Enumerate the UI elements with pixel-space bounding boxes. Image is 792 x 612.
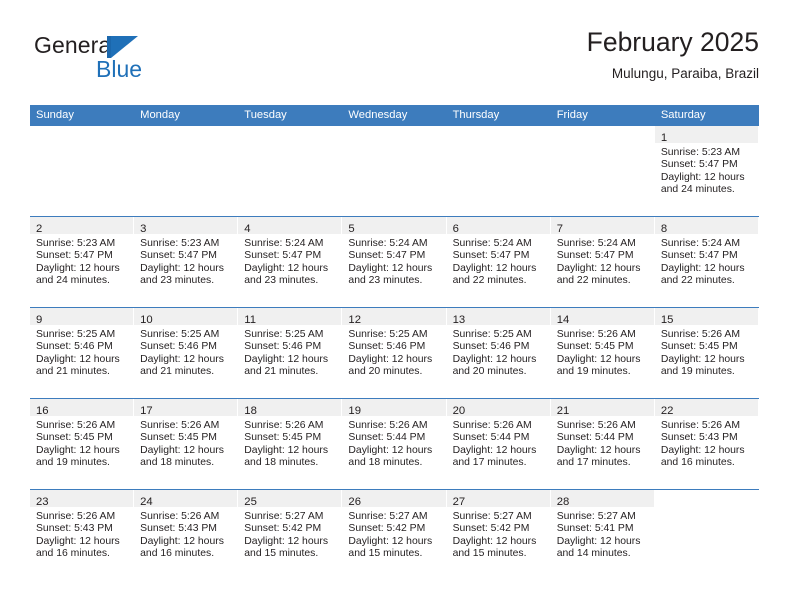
daylight-text-line1: Daylight: 12 hours <box>244 445 338 457</box>
daylight-text-line1: Daylight: 12 hours <box>453 263 547 275</box>
calendar-cell-inner <box>30 126 134 216</box>
day-number: 23 <box>36 496 49 508</box>
weekday-header-monday: Monday <box>134 105 238 126</box>
calendar-cell-inner: 4Sunrise: 5:24 AMSunset: 5:47 PMDaylight… <box>238 217 342 307</box>
daylight-text-line2: and 14 minutes. <box>557 548 651 560</box>
sunrise-text: Sunrise: 5:26 AM <box>140 420 234 432</box>
day-details: Sunrise: 5:27 AMSunset: 5:42 PMDaylight:… <box>342 507 446 561</box>
daylight-text-line2: and 19 minutes. <box>557 366 651 378</box>
sunset-text: Sunset: 5:47 PM <box>348 250 442 262</box>
calendar-page: General Blue February 2025 Mulungu, Para… <box>0 0 792 612</box>
day-number: 22 <box>661 405 674 417</box>
sunrise-text: Sunrise: 5:26 AM <box>661 420 755 432</box>
sunrise-text: Sunrise: 5:26 AM <box>36 511 130 523</box>
daylight-text-line1: Daylight: 12 hours <box>140 536 234 548</box>
calendar-cell-inner <box>551 126 655 216</box>
calendar-cell-inner: 20Sunrise: 5:26 AMSunset: 5:44 PMDayligh… <box>447 399 551 489</box>
calendar-week-row: 2Sunrise: 5:23 AMSunset: 5:47 PMDaylight… <box>30 217 759 308</box>
calendar-cell-empty <box>134 126 238 217</box>
daylight-text-line2: and 15 minutes. <box>453 548 547 560</box>
day-number-band: 2 <box>30 217 133 234</box>
day-number-band: 18 <box>238 399 341 416</box>
day-number-band: 27 <box>447 490 550 507</box>
sunrise-text: Sunrise: 5:26 AM <box>557 420 651 432</box>
day-details: Sunrise: 5:24 AMSunset: 5:47 PMDaylight:… <box>655 234 759 288</box>
sunrise-text: Sunrise: 5:23 AM <box>661 147 755 159</box>
day-details: Sunrise: 5:26 AMSunset: 5:43 PMDaylight:… <box>655 416 759 470</box>
calendar-day-cell[interactable]: 11Sunrise: 5:25 AMSunset: 5:46 PMDayligh… <box>238 308 342 399</box>
day-number-band <box>551 126 654 143</box>
day-number: 19 <box>348 405 361 417</box>
day-number: 17 <box>140 405 153 417</box>
daylight-text-line1: Daylight: 12 hours <box>244 354 338 366</box>
sunset-text: Sunset: 5:45 PM <box>557 341 651 353</box>
day-number: 1 <box>661 132 667 144</box>
calendar-cell-inner: 10Sunrise: 5:25 AMSunset: 5:46 PMDayligh… <box>134 308 238 398</box>
calendar-cell-inner: 15Sunrise: 5:26 AMSunset: 5:45 PMDayligh… <box>655 308 759 398</box>
daylight-text-line2: and 18 minutes. <box>348 457 442 469</box>
daylight-text-line2: and 16 minutes. <box>140 548 234 560</box>
day-number: 21 <box>557 405 570 417</box>
day-number-band: 3 <box>134 217 237 234</box>
calendar-cell-inner: 25Sunrise: 5:27 AMSunset: 5:42 PMDayligh… <box>238 490 342 580</box>
day-number: 6 <box>453 223 459 235</box>
day-details: Sunrise: 5:23 AMSunset: 5:47 PMDaylight:… <box>655 143 759 197</box>
daylight-text-line1: Daylight: 12 hours <box>244 536 338 548</box>
day-number: 27 <box>453 496 466 508</box>
calendar-cell-inner <box>655 490 759 580</box>
daylight-text-line2: and 21 minutes. <box>244 366 338 378</box>
sunset-text: Sunset: 5:43 PM <box>140 523 234 535</box>
weekday-header-saturday: Saturday <box>655 105 759 126</box>
sunset-text: Sunset: 5:42 PM <box>453 523 547 535</box>
daylight-text-line1: Daylight: 12 hours <box>244 263 338 275</box>
sunset-text: Sunset: 5:47 PM <box>36 250 130 262</box>
sunrise-text: Sunrise: 5:25 AM <box>140 329 234 341</box>
calendar-week-row: 1Sunrise: 5:23 AMSunset: 5:47 PMDaylight… <box>30 126 759 217</box>
daylight-text-line2: and 19 minutes. <box>661 366 755 378</box>
daylight-text-line1: Daylight: 12 hours <box>557 354 651 366</box>
sunrise-text: Sunrise: 5:26 AM <box>36 420 130 432</box>
sunset-text: Sunset: 5:44 PM <box>348 432 442 444</box>
daylight-text-line2: and 20 minutes. <box>453 366 547 378</box>
daylight-text-line1: Daylight: 12 hours <box>453 354 547 366</box>
daylight-text-line2: and 17 minutes. <box>557 457 651 469</box>
calendar-day-cell[interactable]: 17Sunrise: 5:26 AMSunset: 5:45 PMDayligh… <box>134 399 238 490</box>
sunset-text: Sunset: 5:45 PM <box>140 432 234 444</box>
calendar-cell-inner <box>134 126 238 216</box>
day-details: Sunrise: 5:25 AMSunset: 5:46 PMDaylight:… <box>447 325 551 379</box>
weekday-header-wednesday: Wednesday <box>342 105 446 126</box>
day-number-band <box>238 126 341 143</box>
calendar-cell-empty <box>238 126 342 217</box>
day-number-band <box>447 126 550 143</box>
daylight-text-line1: Daylight: 12 hours <box>36 354 130 366</box>
day-number: 10 <box>140 314 153 326</box>
day-details: Sunrise: 5:27 AMSunset: 5:41 PMDaylight:… <box>551 507 655 561</box>
day-number-band: 14 <box>551 308 654 325</box>
day-number-band: 21 <box>551 399 654 416</box>
day-details: Sunrise: 5:25 AMSunset: 5:46 PMDaylight:… <box>342 325 446 379</box>
calendar-day-cell[interactable]: 15Sunrise: 5:26 AMSunset: 5:45 PMDayligh… <box>655 308 759 399</box>
calendar-day-cell[interactable]: 24Sunrise: 5:26 AMSunset: 5:43 PMDayligh… <box>134 490 238 581</box>
sunset-text: Sunset: 5:45 PM <box>36 432 130 444</box>
day-number-band: 24 <box>134 490 237 507</box>
daylight-text-line1: Daylight: 12 hours <box>140 445 234 457</box>
weekday-header-sunday: Sunday <box>30 105 134 126</box>
sunrise-text: Sunrise: 5:24 AM <box>557 238 651 250</box>
triangle-logo-icon <box>107 36 138 58</box>
daylight-text-line1: Daylight: 12 hours <box>661 263 755 275</box>
sunrise-text: Sunrise: 5:25 AM <box>348 329 442 341</box>
day-number-band <box>134 126 237 143</box>
day-number-band: 25 <box>238 490 341 507</box>
calendar-body: 1Sunrise: 5:23 AMSunset: 5:47 PMDaylight… <box>30 126 759 580</box>
calendar-day-cell[interactable]: 3Sunrise: 5:23 AMSunset: 5:47 PMDaylight… <box>134 217 238 308</box>
day-details: Sunrise: 5:24 AMSunset: 5:47 PMDaylight:… <box>551 234 655 288</box>
daylight-text-line2: and 15 minutes. <box>348 548 442 560</box>
daylight-text-line1: Daylight: 12 hours <box>140 354 234 366</box>
calendar-day-cell[interactable]: 9Sunrise: 5:25 AMSunset: 5:46 PMDaylight… <box>30 308 134 399</box>
calendar-week-row: 23Sunrise: 5:26 AMSunset: 5:43 PMDayligh… <box>30 490 759 581</box>
calendar-day-cell[interactable]: 21Sunrise: 5:26 AMSunset: 5:44 PMDayligh… <box>551 399 655 490</box>
weekday-header-friday: Friday <box>551 105 655 126</box>
daylight-text-line2: and 17 minutes. <box>453 457 547 469</box>
day-details: Sunrise: 5:27 AMSunset: 5:42 PMDaylight:… <box>447 507 551 561</box>
day-number: 14 <box>557 314 570 326</box>
calendar-day-cell[interactable]: 22Sunrise: 5:26 AMSunset: 5:43 PMDayligh… <box>655 399 759 490</box>
daylight-text-line2: and 16 minutes. <box>36 548 130 560</box>
calendar-day-cell[interactable]: 25Sunrise: 5:27 AMSunset: 5:42 PMDayligh… <box>238 490 342 581</box>
sunset-text: Sunset: 5:46 PM <box>348 341 442 353</box>
day-number-band <box>342 126 445 143</box>
calendar-day-cell[interactable]: 13Sunrise: 5:25 AMSunset: 5:46 PMDayligh… <box>447 308 551 399</box>
calendar-cell-inner: 26Sunrise: 5:27 AMSunset: 5:42 PMDayligh… <box>342 490 446 580</box>
day-number-band: 9 <box>30 308 133 325</box>
day-details: Sunrise: 5:26 AMSunset: 5:43 PMDaylight:… <box>134 507 238 561</box>
daylight-text-line2: and 23 minutes. <box>348 275 442 287</box>
logo-text-general: General <box>34 32 117 58</box>
day-number-band: 7 <box>551 217 654 234</box>
sunset-text: Sunset: 5:47 PM <box>661 159 755 171</box>
day-number: 26 <box>348 496 361 508</box>
day-number: 7 <box>557 223 563 235</box>
day-number-band: 5 <box>342 217 445 234</box>
calendar-cell-inner: 23Sunrise: 5:26 AMSunset: 5:43 PMDayligh… <box>30 490 134 580</box>
sunrise-text: Sunrise: 5:23 AM <box>36 238 130 250</box>
day-number: 15 <box>661 314 674 326</box>
day-number: 13 <box>453 314 466 326</box>
daylight-text-line2: and 24 minutes. <box>36 275 130 287</box>
calendar-day-cell[interactable]: 10Sunrise: 5:25 AMSunset: 5:46 PMDayligh… <box>134 308 238 399</box>
daylight-text-line1: Daylight: 12 hours <box>348 263 442 275</box>
sunset-text: Sunset: 5:41 PM <box>557 523 651 535</box>
calendar-day-cell[interactable]: 23Sunrise: 5:26 AMSunset: 5:43 PMDayligh… <box>30 490 134 581</box>
daylight-text-line2: and 21 minutes. <box>140 366 234 378</box>
calendar-cell-inner: 21Sunrise: 5:26 AMSunset: 5:44 PMDayligh… <box>551 399 655 489</box>
calendar-cell-inner: 3Sunrise: 5:23 AMSunset: 5:47 PMDaylight… <box>134 217 238 307</box>
day-number-band: 16 <box>30 399 133 416</box>
day-number-band: 4 <box>238 217 341 234</box>
calendar-cell-inner: 9Sunrise: 5:25 AMSunset: 5:46 PMDaylight… <box>30 308 134 398</box>
sunrise-text: Sunrise: 5:26 AM <box>453 420 547 432</box>
calendar-cell-inner: 27Sunrise: 5:27 AMSunset: 5:42 PMDayligh… <box>447 490 551 580</box>
calendar-cell-inner: 5Sunrise: 5:24 AMSunset: 5:47 PMDaylight… <box>342 217 446 307</box>
day-number-band: 23 <box>30 490 133 507</box>
sunset-text: Sunset: 5:47 PM <box>453 250 547 262</box>
day-number: 5 <box>348 223 354 235</box>
sunset-text: Sunset: 5:46 PM <box>140 341 234 353</box>
calendar-table: Sunday Monday Tuesday Wednesday Thursday… <box>30 105 759 580</box>
calendar-day-cell[interactable]: 14Sunrise: 5:26 AMSunset: 5:45 PMDayligh… <box>551 308 655 399</box>
daylight-text-line2: and 18 minutes. <box>140 457 234 469</box>
calendar-day-cell[interactable]: 4Sunrise: 5:24 AMSunset: 5:47 PMDaylight… <box>238 217 342 308</box>
sunset-text: Sunset: 5:44 PM <box>453 432 547 444</box>
daylight-text-line2: and 21 minutes. <box>36 366 130 378</box>
calendar-cell-inner: 14Sunrise: 5:26 AMSunset: 5:45 PMDayligh… <box>551 308 655 398</box>
calendar-day-cell[interactable]: 1Sunrise: 5:23 AMSunset: 5:47 PMDaylight… <box>655 126 759 217</box>
calendar-cell-inner: 19Sunrise: 5:26 AMSunset: 5:44 PMDayligh… <box>342 399 446 489</box>
sunrise-text: Sunrise: 5:25 AM <box>36 329 130 341</box>
calendar-cell-empty <box>30 126 134 217</box>
weekday-header-tuesday: Tuesday <box>238 105 342 126</box>
daylight-text-line1: Daylight: 12 hours <box>140 263 234 275</box>
calendar-cell-inner: 22Sunrise: 5:26 AMSunset: 5:43 PMDayligh… <box>655 399 759 489</box>
day-number-band <box>30 126 133 143</box>
day-number: 4 <box>244 223 250 235</box>
day-number-band: 20 <box>447 399 550 416</box>
day-number-band: 15 <box>655 308 758 325</box>
daylight-text-line1: Daylight: 12 hours <box>661 354 755 366</box>
sunrise-text: Sunrise: 5:24 AM <box>453 238 547 250</box>
daylight-text-line1: Daylight: 12 hours <box>557 263 651 275</box>
day-details: Sunrise: 5:25 AMSunset: 5:46 PMDaylight:… <box>30 325 134 379</box>
day-number: 18 <box>244 405 257 417</box>
daylight-text-line2: and 18 minutes. <box>244 457 338 469</box>
daylight-text-line1: Daylight: 12 hours <box>36 445 130 457</box>
day-details: Sunrise: 5:26 AMSunset: 5:44 PMDaylight:… <box>447 416 551 470</box>
sunrise-text: Sunrise: 5:26 AM <box>348 420 442 432</box>
daylight-text-line1: Daylight: 12 hours <box>348 536 442 548</box>
calendar-day-cell[interactable]: 20Sunrise: 5:26 AMSunset: 5:44 PMDayligh… <box>447 399 551 490</box>
calendar-day-cell[interactable]: 6Sunrise: 5:24 AMSunset: 5:47 PMDaylight… <box>447 217 551 308</box>
daylight-text-line2: and 20 minutes. <box>348 366 442 378</box>
day-number: 16 <box>36 405 49 417</box>
day-details: Sunrise: 5:26 AMSunset: 5:45 PMDaylight:… <box>238 416 342 470</box>
sunset-text: Sunset: 5:43 PM <box>661 432 755 444</box>
sunset-text: Sunset: 5:47 PM <box>244 250 338 262</box>
day-number: 24 <box>140 496 153 508</box>
sunrise-text: Sunrise: 5:26 AM <box>244 420 338 432</box>
sunrise-text: Sunrise: 5:24 AM <box>348 238 442 250</box>
calendar-cell-inner: 8Sunrise: 5:24 AMSunset: 5:47 PMDaylight… <box>655 217 759 307</box>
calendar-cell-inner <box>238 126 342 216</box>
sunset-text: Sunset: 5:46 PM <box>36 341 130 353</box>
day-details: Sunrise: 5:26 AMSunset: 5:45 PMDaylight:… <box>30 416 134 470</box>
daylight-text-line2: and 15 minutes. <box>244 548 338 560</box>
daylight-text-line2: and 22 minutes. <box>453 275 547 287</box>
day-number: 8 <box>661 223 667 235</box>
sunrise-text: Sunrise: 5:25 AM <box>453 329 547 341</box>
daylight-text-line1: Daylight: 12 hours <box>661 445 755 457</box>
calendar-day-cell[interactable]: 8Sunrise: 5:24 AMSunset: 5:47 PMDaylight… <box>655 217 759 308</box>
daylight-text-line2: and 22 minutes. <box>557 275 651 287</box>
day-number-band: 28 <box>551 490 654 507</box>
page-title: February 2025 <box>587 26 759 58</box>
calendar-day-cell[interactable]: 16Sunrise: 5:26 AMSunset: 5:45 PMDayligh… <box>30 399 134 490</box>
day-number-band: 26 <box>342 490 445 507</box>
daylight-text-line2: and 23 minutes. <box>244 275 338 287</box>
daylight-text-line2: and 16 minutes. <box>661 457 755 469</box>
day-number-band: 1 <box>655 126 758 143</box>
calendar-day-cell[interactable]: 19Sunrise: 5:26 AMSunset: 5:44 PMDayligh… <box>342 399 446 490</box>
daylight-text-line1: Daylight: 12 hours <box>557 445 651 457</box>
daylight-text-line1: Daylight: 12 hours <box>661 172 755 184</box>
day-number: 3 <box>140 223 146 235</box>
sunset-text: Sunset: 5:42 PM <box>244 523 338 535</box>
sunrise-text: Sunrise: 5:26 AM <box>557 329 651 341</box>
day-number-band: 22 <box>655 399 758 416</box>
daylight-text-line1: Daylight: 12 hours <box>557 536 651 548</box>
sunset-text: Sunset: 5:45 PM <box>244 432 338 444</box>
calendar-cell-inner: 18Sunrise: 5:26 AMSunset: 5:45 PMDayligh… <box>238 399 342 489</box>
daylight-text-line2: and 24 minutes. <box>661 184 755 196</box>
sunrise-text: Sunrise: 5:27 AM <box>348 511 442 523</box>
calendar-cell-inner: 24Sunrise: 5:26 AMSunset: 5:43 PMDayligh… <box>134 490 238 580</box>
calendar-cell-inner: 17Sunrise: 5:26 AMSunset: 5:45 PMDayligh… <box>134 399 238 489</box>
day-number-band: 11 <box>238 308 341 325</box>
calendar-cell-inner: 11Sunrise: 5:25 AMSunset: 5:46 PMDayligh… <box>238 308 342 398</box>
weekday-header-row: Sunday Monday Tuesday Wednesday Thursday… <box>30 105 759 126</box>
day-details: Sunrise: 5:26 AMSunset: 5:45 PMDaylight:… <box>655 325 759 379</box>
sunset-text: Sunset: 5:46 PM <box>453 341 547 353</box>
calendar-day-cell[interactable]: 28Sunrise: 5:27 AMSunset: 5:41 PMDayligh… <box>551 490 655 581</box>
daylight-text-line2: and 23 minutes. <box>140 275 234 287</box>
calendar-cell-empty <box>342 126 446 217</box>
day-details: Sunrise: 5:26 AMSunset: 5:43 PMDaylight:… <box>30 507 134 561</box>
day-details: Sunrise: 5:25 AMSunset: 5:46 PMDaylight:… <box>238 325 342 379</box>
day-number: 9 <box>36 314 42 326</box>
daylight-text-line1: Daylight: 12 hours <box>453 445 547 457</box>
day-number-band: 17 <box>134 399 237 416</box>
calendar-cell-inner: 2Sunrise: 5:23 AMSunset: 5:47 PMDaylight… <box>30 217 134 307</box>
sunset-text: Sunset: 5:46 PM <box>244 341 338 353</box>
title-block: February 2025 Mulungu, Paraiba, Brazil <box>587 26 759 82</box>
sunset-text: Sunset: 5:47 PM <box>557 250 651 262</box>
calendar-head: Sunday Monday Tuesday Wednesday Thursday… <box>30 105 759 126</box>
sunset-text: Sunset: 5:42 PM <box>348 523 442 535</box>
day-details: Sunrise: 5:27 AMSunset: 5:42 PMDaylight:… <box>238 507 342 561</box>
calendar-day-cell[interactable]: 5Sunrise: 5:24 AMSunset: 5:47 PMDaylight… <box>342 217 446 308</box>
calendar-cell-empty <box>655 490 759 581</box>
calendar-day-cell[interactable]: 12Sunrise: 5:25 AMSunset: 5:46 PMDayligh… <box>342 308 446 399</box>
day-details: Sunrise: 5:24 AMSunset: 5:47 PMDaylight:… <box>342 234 446 288</box>
sunrise-text: Sunrise: 5:23 AM <box>140 238 234 250</box>
day-details: Sunrise: 5:25 AMSunset: 5:46 PMDaylight:… <box>134 325 238 379</box>
calendar-cell-inner: 12Sunrise: 5:25 AMSunset: 5:46 PMDayligh… <box>342 308 446 398</box>
calendar-cell-inner: 16Sunrise: 5:26 AMSunset: 5:45 PMDayligh… <box>30 399 134 489</box>
day-details: Sunrise: 5:26 AMSunset: 5:45 PMDaylight:… <box>134 416 238 470</box>
logo[interactable]: General Blue <box>34 32 214 90</box>
daylight-text-line1: Daylight: 12 hours <box>348 445 442 457</box>
calendar-cell-inner: 13Sunrise: 5:25 AMSunset: 5:46 PMDayligh… <box>447 308 551 398</box>
daylight-text-line2: and 22 minutes. <box>661 275 755 287</box>
day-details: Sunrise: 5:24 AMSunset: 5:47 PMDaylight:… <box>447 234 551 288</box>
page-header: General Blue February 2025 Mulungu, Para… <box>30 26 759 98</box>
day-number-band: 6 <box>447 217 550 234</box>
sunset-text: Sunset: 5:45 PM <box>661 341 755 353</box>
daylight-text-line1: Daylight: 12 hours <box>36 536 130 548</box>
calendar-week-row: 16Sunrise: 5:26 AMSunset: 5:45 PMDayligh… <box>30 399 759 490</box>
calendar-day-cell[interactable]: 7Sunrise: 5:24 AMSunset: 5:47 PMDaylight… <box>551 217 655 308</box>
day-details: Sunrise: 5:26 AMSunset: 5:45 PMDaylight:… <box>551 325 655 379</box>
calendar-week-row: 9Sunrise: 5:25 AMSunset: 5:46 PMDaylight… <box>30 308 759 399</box>
day-number-band: 10 <box>134 308 237 325</box>
sunrise-text: Sunrise: 5:27 AM <box>557 511 651 523</box>
sunrise-text: Sunrise: 5:26 AM <box>140 511 234 523</box>
day-details: Sunrise: 5:26 AMSunset: 5:44 PMDaylight:… <box>342 416 446 470</box>
sunrise-text: Sunrise: 5:25 AM <box>244 329 338 341</box>
logo-triangle <box>111 36 138 58</box>
sunrise-text: Sunrise: 5:27 AM <box>244 511 338 523</box>
calendar-day-cell[interactable]: 18Sunrise: 5:26 AMSunset: 5:45 PMDayligh… <box>238 399 342 490</box>
day-details: Sunrise: 5:23 AMSunset: 5:47 PMDaylight:… <box>134 234 238 288</box>
daylight-text-line1: Daylight: 12 hours <box>348 354 442 366</box>
day-number: 11 <box>244 314 256 326</box>
day-number: 12 <box>348 314 361 326</box>
day-number-band <box>655 490 758 507</box>
day-number: 28 <box>557 496 570 508</box>
day-number-band: 19 <box>342 399 445 416</box>
sunrise-text: Sunrise: 5:24 AM <box>661 238 755 250</box>
logo-text-blue: Blue <box>96 56 142 82</box>
day-details: Sunrise: 5:23 AMSunset: 5:47 PMDaylight:… <box>30 234 134 288</box>
sunrise-text: Sunrise: 5:27 AM <box>453 511 547 523</box>
calendar-day-cell[interactable]: 2Sunrise: 5:23 AMSunset: 5:47 PMDaylight… <box>30 217 134 308</box>
daylight-text-line1: Daylight: 12 hours <box>36 263 130 275</box>
calendar-cell-inner: 7Sunrise: 5:24 AMSunset: 5:47 PMDaylight… <box>551 217 655 307</box>
sunset-text: Sunset: 5:47 PM <box>661 250 755 262</box>
sunset-text: Sunset: 5:43 PM <box>36 523 130 535</box>
calendar-cell-inner <box>447 126 551 216</box>
calendar-cell-empty <box>447 126 551 217</box>
calendar-cell-inner: 28Sunrise: 5:27 AMSunset: 5:41 PMDayligh… <box>551 490 655 580</box>
page-subtitle: Mulungu, Paraiba, Brazil <box>587 65 759 82</box>
calendar-day-cell[interactable]: 27Sunrise: 5:27 AMSunset: 5:42 PMDayligh… <box>447 490 551 581</box>
calendar-day-cell[interactable]: 26Sunrise: 5:27 AMSunset: 5:42 PMDayligh… <box>342 490 446 581</box>
day-number-band: 8 <box>655 217 758 234</box>
calendar-cell-inner: 6Sunrise: 5:24 AMSunset: 5:47 PMDaylight… <box>447 217 551 307</box>
day-number: 25 <box>244 496 257 508</box>
day-details: Sunrise: 5:24 AMSunset: 5:47 PMDaylight:… <box>238 234 342 288</box>
calendar-cell-inner <box>342 126 446 216</box>
day-number: 20 <box>453 405 466 417</box>
day-number: 2 <box>36 223 42 235</box>
calendar-cell-inner: 1Sunrise: 5:23 AMSunset: 5:47 PMDaylight… <box>655 126 759 216</box>
day-details: Sunrise: 5:26 AMSunset: 5:44 PMDaylight:… <box>551 416 655 470</box>
day-number-band: 12 <box>342 308 445 325</box>
sunrise-text: Sunrise: 5:24 AM <box>244 238 338 250</box>
sunset-text: Sunset: 5:47 PM <box>140 250 234 262</box>
daylight-text-line2: and 19 minutes. <box>36 457 130 469</box>
sunset-text: Sunset: 5:44 PM <box>557 432 651 444</box>
day-number-band: 13 <box>447 308 550 325</box>
sunrise-text: Sunrise: 5:26 AM <box>661 329 755 341</box>
daylight-text-line1: Daylight: 12 hours <box>453 536 547 548</box>
calendar-cell-empty <box>551 126 655 217</box>
weekday-header-thursday: Thursday <box>447 105 551 126</box>
